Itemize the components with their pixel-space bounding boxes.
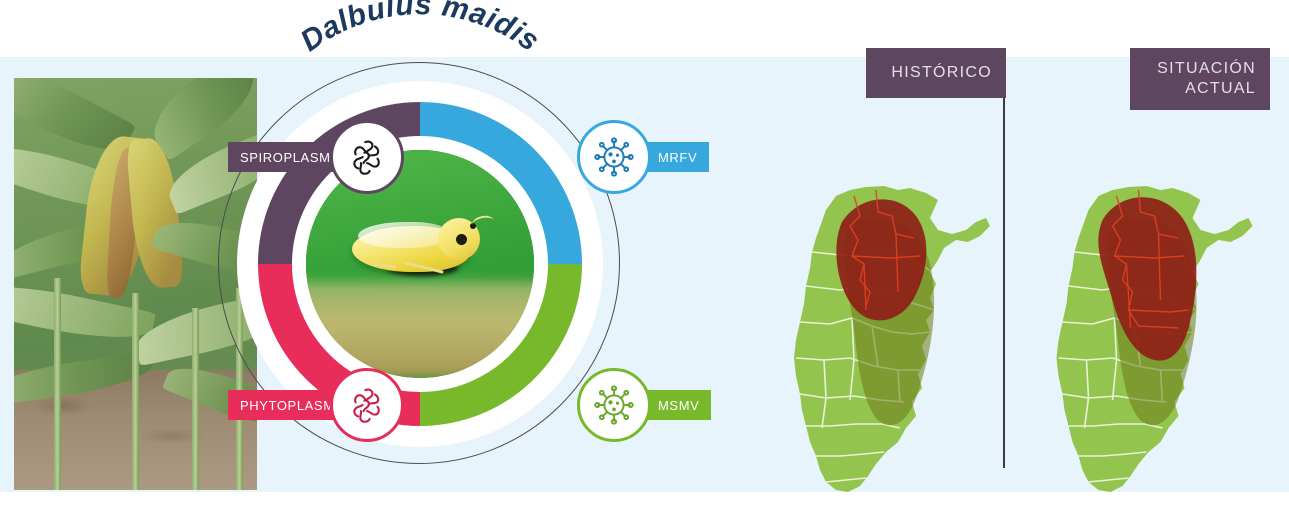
- leaf-backdrop-bottom: [306, 282, 534, 378]
- tag-msmv-label: MSMV: [658, 398, 699, 413]
- node-mrfv[interactable]: [577, 120, 651, 194]
- spiroplasma-bacteria-icon: [346, 136, 388, 178]
- argentina-outline: [1057, 186, 1253, 492]
- tag-spiroplasma-label: SPIROPLASMA: [240, 150, 340, 165]
- banner-historico-label: HISTÓRICO: [891, 63, 992, 83]
- node-phytoplasma[interactable]: [330, 368, 404, 442]
- insect-eye: [456, 234, 467, 245]
- virus-icon: [593, 136, 635, 178]
- stalk: [54, 278, 61, 490]
- virus-icon: [593, 384, 635, 426]
- stalk: [132, 293, 139, 490]
- insect-wing: [358, 222, 446, 248]
- page-title-text: Dalbulus maidis: [295, 0, 546, 58]
- banner-situacion-line1: SITUACIÓN: [1157, 59, 1256, 79]
- infographic-canvas: Dalbulus maidis: [0, 0, 1289, 522]
- phytoplasma-bacteria-icon: [346, 384, 388, 426]
- argentina-outline: [794, 186, 990, 492]
- banner-situacion-line2: ACTUAL: [1157, 79, 1256, 99]
- node-spiroplasma[interactable]: [330, 120, 404, 194]
- node-msmv[interactable]: [577, 368, 651, 442]
- map-situacion-actual: [1035, 160, 1280, 508]
- leafhopper-insect: [352, 212, 484, 274]
- banner-historico: HISTÓRICO: [866, 48, 1006, 98]
- banner-situacion-actual: SITUACIÓN ACTUAL: [1130, 48, 1270, 110]
- leafhopper-photo: [306, 150, 534, 378]
- stalk: [192, 308, 199, 490]
- tag-mrfv-label: MRFV: [658, 150, 697, 165]
- tag-phytoplasma-label: PHYTOPLASMA: [240, 398, 344, 413]
- map-historico: [780, 160, 1010, 508]
